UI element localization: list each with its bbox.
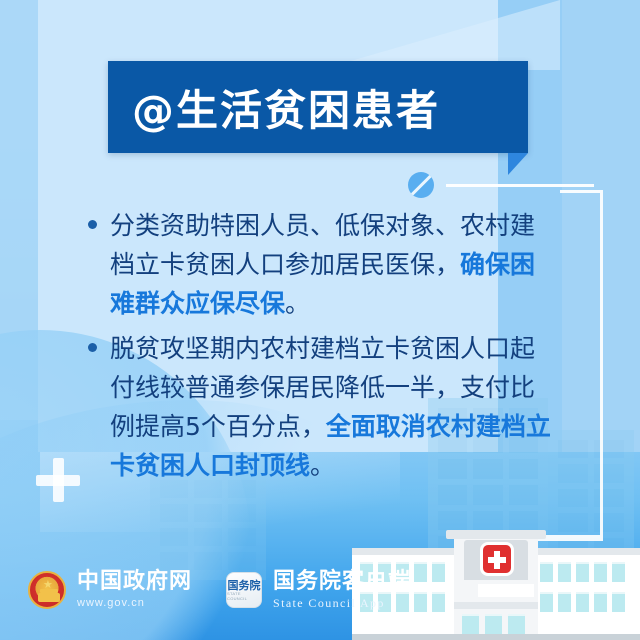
hospital-center-band [454,602,538,609]
hospital-left-cornice [352,548,460,555]
gov-name: 中国政府网 [77,570,192,594]
gov-brand: 中国政府网 www.gov.cn [77,570,192,610]
gov-url: www.gov.cn [77,596,192,610]
hospital-roof-slab [446,530,546,539]
bullet-segment-period: 。 [285,289,310,318]
infographic-poster: @生活贫困患者 分类资助特困人员、低保对象、农村建档立卡贫困人口参加居民医保，确… [0,0,640,640]
bullet-dot-icon [88,343,97,352]
footer-branding: ★ 中国政府网 www.gov.cn 国务院 STATE COUNCIL 国务院… [28,566,411,614]
pill-icon [408,172,434,198]
page-title: @生活贫困患者 [132,70,528,144]
bullet-dot-icon [88,220,97,229]
bullet-segment-period: 。 [310,451,335,480]
hospital-base [352,634,640,640]
list-item: 分类资助特困人员、低保对象、农村建档立卡贫困人口参加居民医保，确保困难群众应保尽… [88,206,558,323]
state-council-app-icon: 国务院 STATE COUNCIL [226,572,262,608]
hospital-window-row [540,592,625,612]
decorative-frame-top-stub [560,190,600,193]
ribbon-folded-corner [508,153,528,175]
national-emblem-icon: ★ [28,571,66,609]
red-cross-icon [480,542,514,576]
hospital-center-window-row [462,614,525,636]
app-brand: 国务院客户端 State Council App [273,570,411,611]
app-icon-subtext: STATE COUNCIL [227,591,261,601]
app-icon-glyph: 国务院 [227,580,261,591]
emblem-gate [38,593,60,602]
hospital-sign-board [478,584,534,597]
app-name: 国务院客户端 [273,570,411,594]
app-en-name: State Council App [273,596,411,611]
medical-plus-icon [36,458,80,502]
bullet-text: 分类资助特困人员、低保对象、农村建档立卡贫困人口参加居民医保，确保困难群众应保尽… [110,206,558,323]
hospital-window-row [540,562,625,582]
decorative-rule [446,184,594,187]
bullet-text: 脱贫攻坚期内农村建档立卡贫困人口起付线较普通参保居民降低一半，支付比例提高5个百… [110,329,558,485]
list-item: 脱贫攻坚期内农村建档立卡贫困人口起付线较普通参保居民降低一半，支付比例提高5个百… [88,329,558,485]
hospital-right-cornice [532,548,640,555]
bullet-list: 分类资助特困人员、低保对象、农村建档立卡贫困人口参加居民医保，确保困难群众应保尽… [88,206,558,491]
